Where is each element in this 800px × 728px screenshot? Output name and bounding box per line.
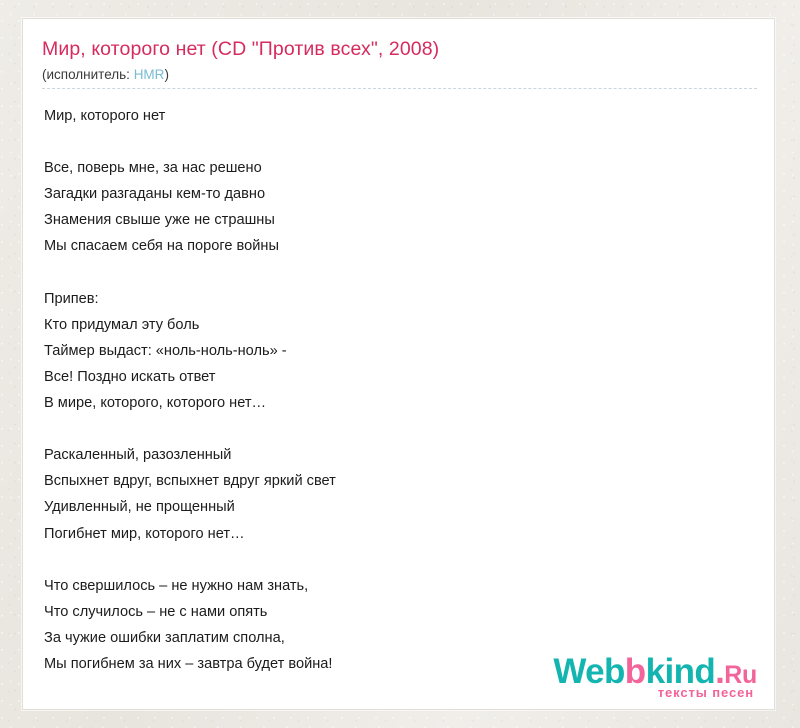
site-logo[interactable]: Webbkind.Ru тексты песен [553,655,757,700]
artist-link[interactable]: HMR [134,67,165,82]
artist-line: (исполнитель: HMR) [42,66,756,83]
logo-part-web: Web [553,652,624,691]
card-inner: Мир, которого нет (CD "Против всех", 200… [23,19,774,677]
page-background: Мир, которого нет (CD "Против всех", 200… [0,0,800,728]
artist-prefix-label: (исполнитель: [42,67,134,82]
artist-suffix-label: ) [164,67,169,82]
lyrics-content-card: Мир, которого нет (CD "Против всех", 200… [22,18,775,710]
logo-part-b: b [625,652,646,691]
page-title: Мир, которого нет (CD "Против всех", 200… [42,36,756,62]
lyrics-text: Мир, которого нет Все, поверь мне, за на… [44,103,756,677]
header-divider [42,88,757,89]
